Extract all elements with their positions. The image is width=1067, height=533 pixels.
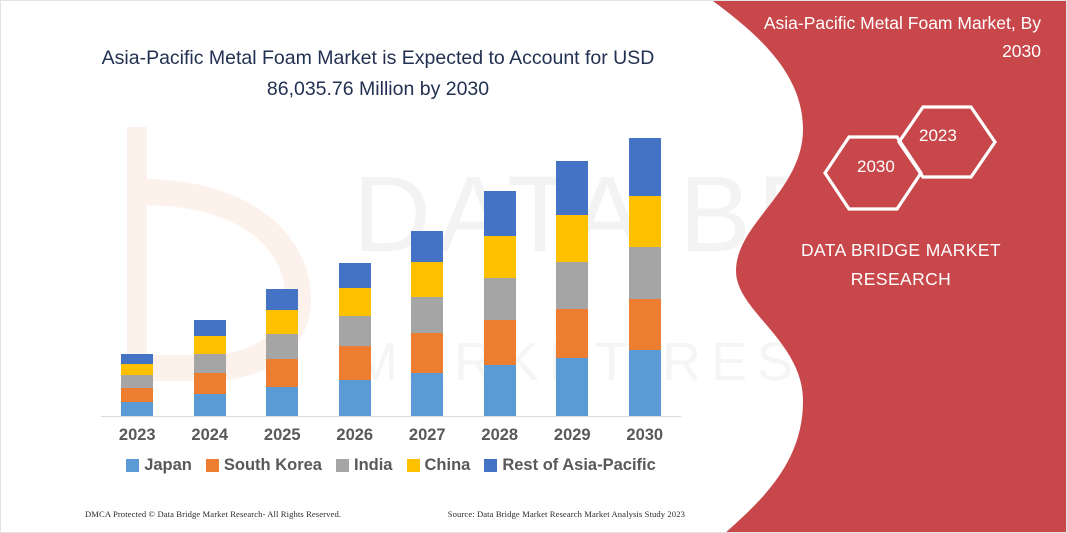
bar-segment — [556, 161, 588, 215]
bar-segment — [411, 231, 443, 262]
legend-item-south-korea[interactable]: South Korea — [206, 456, 322, 475]
brand-name: DATA BRIDGE MARKET RESEARCH — [751, 236, 1051, 294]
hexagon-outlines-icon — [811, 101, 1011, 216]
bar-segment — [484, 191, 516, 236]
bar-segment — [194, 320, 226, 336]
hexagon-2023-label: 2023 — [919, 126, 957, 146]
legend-swatch-icon — [206, 459, 219, 472]
x-label-2023: 2023 — [101, 426, 173, 445]
bar-segment — [121, 354, 153, 364]
legend-item-china[interactable]: China — [407, 456, 471, 475]
brand-line-2: RESEARCH — [751, 265, 1051, 294]
bar-segment — [629, 350, 661, 417]
legend-swatch-icon — [484, 459, 497, 472]
bar-segment — [629, 138, 661, 196]
bar-segment — [629, 196, 661, 247]
bar-segment — [266, 334, 298, 359]
bar-segment — [484, 320, 516, 365]
legend-item-india[interactable]: India — [336, 456, 393, 475]
bar-2025 — [266, 289, 298, 417]
x-label-2030: 2030 — [609, 426, 681, 445]
bar-segment — [556, 215, 588, 262]
bar-2023 — [121, 354, 153, 417]
bar-segment — [194, 336, 226, 354]
bar-segment — [411, 333, 443, 373]
bar-segment — [556, 309, 588, 358]
bar-segment — [484, 278, 516, 320]
hexagon-2030-label: 2030 — [857, 157, 895, 177]
bar-segment — [121, 375, 153, 388]
bar-segment — [411, 262, 443, 297]
infographic-canvas: DATA BRIDGE MARKET RESEARCH Asia-Pacific… — [0, 0, 1067, 533]
legend-item-japan[interactable]: Japan — [126, 456, 192, 475]
x-label-2024: 2024 — [174, 426, 246, 445]
bar-segment — [629, 299, 661, 350]
bar-segment — [484, 365, 516, 417]
x-label-2028: 2028 — [464, 426, 536, 445]
legend-item-rest-of-asia-pacific[interactable]: Rest of Asia-Pacific — [484, 456, 655, 475]
bar-segment — [411, 373, 443, 417]
bar-segment — [339, 316, 371, 346]
bar-segment — [194, 373, 226, 394]
stacked-bar-chart-plot — [101, 121, 681, 417]
legend-label: Rest of Asia-Pacific — [502, 456, 655, 475]
x-axis-line — [101, 416, 681, 417]
chart-legend: JapanSouth KoreaIndiaChinaRest of Asia-P… — [101, 456, 681, 475]
legend-swatch-icon — [407, 459, 420, 472]
x-label-2025: 2025 — [246, 426, 318, 445]
bar-segment — [121, 402, 153, 417]
bar-segment — [411, 297, 443, 333]
panel-title: Asia-Pacific Metal Foam Market, By 2030 — [751, 9, 1041, 65]
bar-segment — [339, 346, 371, 380]
brand-panel: Asia-Pacific Metal Foam Market, By 2030 … — [691, 1, 1067, 533]
bar-segment — [339, 263, 371, 288]
bar-segment — [194, 394, 226, 417]
legend-label: Japan — [144, 456, 192, 475]
x-label-2027: 2027 — [391, 426, 463, 445]
bar-2029 — [556, 161, 588, 417]
legend-swatch-icon — [336, 459, 349, 472]
bar-segment — [266, 359, 298, 387]
chart-title: Asia-Pacific Metal Foam Market is Expect… — [73, 43, 683, 105]
bar-segment — [194, 354, 226, 373]
footer-source: Source: Data Bridge Market Research Mark… — [448, 509, 685, 519]
bar-2027 — [411, 231, 443, 417]
legend-label: India — [354, 456, 393, 475]
bar-segment — [556, 358, 588, 417]
bar-segment — [556, 262, 588, 309]
bar-segment — [339, 288, 371, 316]
bar-2024 — [194, 320, 226, 417]
bar-segment — [629, 247, 661, 299]
bar-2030 — [629, 138, 661, 417]
bar-2028 — [484, 191, 516, 417]
bar-segment — [121, 388, 153, 402]
legend-label: China — [425, 456, 471, 475]
legend-label: South Korea — [224, 456, 322, 475]
brand-line-1: DATA BRIDGE MARKET — [751, 236, 1051, 265]
x-axis-tick-labels: 20232024202520262027202820292030 — [101, 426, 681, 452]
footer-copyright: DMCA Protected © Data Bridge Market Rese… — [85, 509, 341, 519]
bar-segment — [266, 387, 298, 417]
bar-segment — [266, 310, 298, 334]
footer: DMCA Protected © Data Bridge Market Rese… — [85, 509, 685, 519]
bar-segment — [339, 380, 371, 417]
bar-segment — [121, 364, 153, 375]
x-label-2026: 2026 — [319, 426, 391, 445]
bar-2026 — [339, 263, 371, 417]
legend-swatch-icon — [126, 459, 139, 472]
hexagon-group: 2030 2023 — [811, 101, 1011, 216]
bar-segment — [266, 289, 298, 310]
x-label-2029: 2029 — [536, 426, 608, 445]
bar-segment — [484, 236, 516, 278]
